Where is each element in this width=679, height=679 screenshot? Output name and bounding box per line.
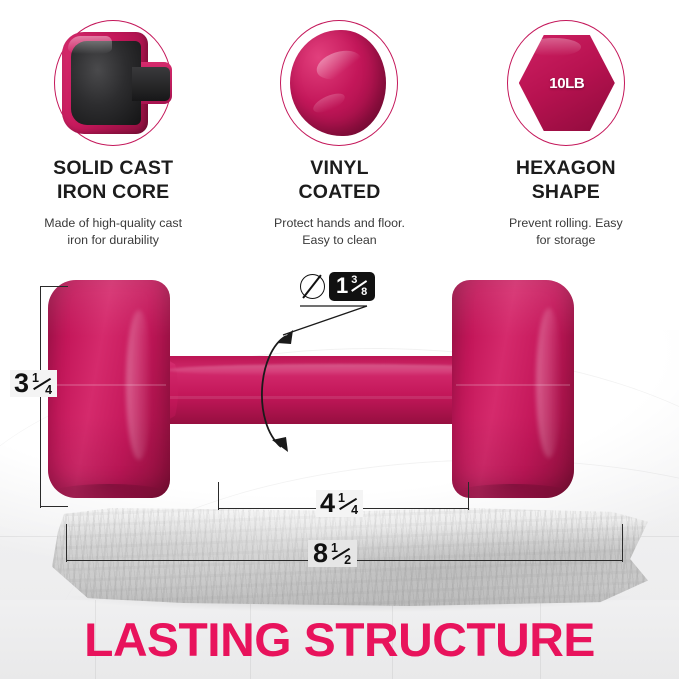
dimension-handle-diameter: 1 3 8 bbox=[300, 272, 375, 301]
feature-title-line2: SHAPE bbox=[516, 181, 616, 205]
feature-desc-line2: iron for durability bbox=[44, 232, 182, 250]
gloss-highlight bbox=[536, 308, 562, 458]
diameter-value-badge: 1 3 8 bbox=[329, 272, 375, 301]
feature-title: SOLID CAST IRON CORE bbox=[53, 157, 173, 205]
product-infographic: SOLID CAST IRON CORE Made of high-qualit… bbox=[0, 0, 679, 679]
feature-description: Prevent rolling. Easy for storage bbox=[509, 215, 623, 250]
feature-description: Protect hands and floor. Easy to clean bbox=[274, 215, 405, 250]
dimension-total-length: 8 1 2 bbox=[66, 524, 626, 568]
feature-desc-line1: Prevent rolling. Easy bbox=[509, 215, 623, 233]
feature-desc-line1: Protect hands and floor. bbox=[274, 215, 405, 233]
vinyl-surface-shape bbox=[290, 30, 386, 136]
head-seam bbox=[456, 384, 570, 386]
feature-desc-line2: Easy to clean bbox=[274, 232, 405, 250]
feature-item-hexagon-shape: 10LB HEXAGON SHAPE Prevent rolling. Easy… bbox=[453, 0, 679, 250]
feature-item-solid-cast-iron-core: SOLID CAST IRON CORE Made of high-qualit… bbox=[0, 0, 226, 250]
weight-badge-label: 10LB bbox=[519, 34, 615, 132]
gloss-highlight bbox=[314, 46, 366, 85]
gloss-highlight-secondary bbox=[311, 90, 348, 117]
dumbbell-head-right bbox=[452, 280, 574, 498]
dimension-total-length-label: 8 1 2 bbox=[308, 540, 357, 567]
page-headline: LASTING STRUCTURE bbox=[0, 612, 679, 667]
dimension-head-span-label: 4 1 4 bbox=[320, 490, 359, 517]
feature-title: VINYL COATED bbox=[298, 157, 380, 205]
gloss-highlight bbox=[68, 36, 112, 54]
feature-title-line2: COATED bbox=[298, 181, 380, 205]
feature-item-vinyl-coated: VINYL COATED Protect hands and floor. Ea… bbox=[226, 0, 452, 250]
feature-title: HEXAGON SHAPE bbox=[516, 157, 616, 205]
dimension-head-span: 4 1 4 bbox=[218, 482, 470, 516]
iron-core-stem bbox=[132, 67, 170, 101]
feature-description: Made of high-quality cast iron for durab… bbox=[44, 215, 182, 250]
dimension-height-label: 3 1 4 bbox=[14, 370, 53, 397]
hexagon-weight-icon: 10LB bbox=[501, 16, 631, 143]
diameter-symbol-icon bbox=[300, 274, 325, 299]
dimension-height: 3 1 4 bbox=[34, 286, 94, 508]
feature-title-line1: HEXAGON bbox=[516, 157, 616, 181]
feature-list: SOLID CAST IRON CORE Made of high-qualit… bbox=[0, 0, 679, 250]
feature-desc-line1: Made of high-quality cast bbox=[44, 215, 182, 233]
head-contact-shadow bbox=[458, 484, 568, 500]
feature-title-line2: IRON CORE bbox=[53, 181, 173, 205]
feature-title-line1: VINYL bbox=[298, 157, 380, 181]
vinyl-surface-closeup-icon bbox=[274, 16, 404, 143]
feature-title-line1: SOLID CAST bbox=[53, 157, 173, 181]
cast-iron-core-cross-section-icon bbox=[48, 16, 178, 143]
feature-desc-line2: for storage bbox=[509, 232, 623, 250]
